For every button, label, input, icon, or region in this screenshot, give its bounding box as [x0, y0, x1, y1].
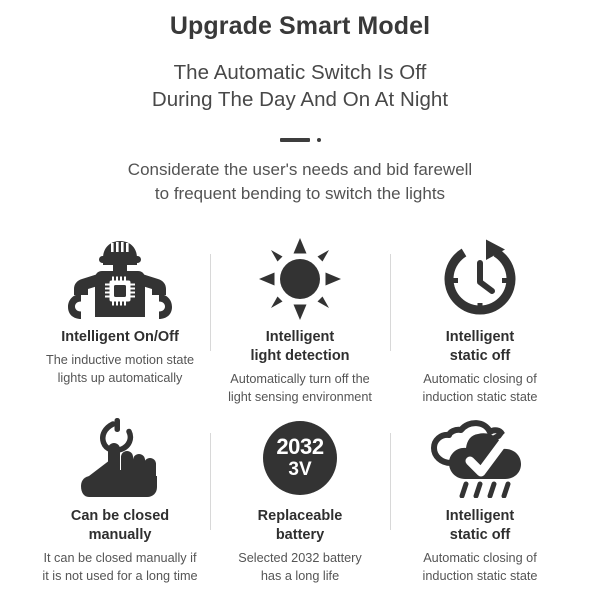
feature-title-line: Intelligent: [446, 328, 514, 347]
feature-description: Automatic closing of induction static st…: [423, 371, 538, 407]
feature-desc-line: light sensing environment: [228, 389, 372, 407]
feature-item-static-off-bottom: Intelligent static off Automatic closing…: [390, 415, 570, 586]
dash-dot-divider-icon: [0, 133, 600, 147]
feature-title-line: static off: [446, 526, 514, 545]
hand-power-touch-icon: [77, 415, 163, 501]
feature-description: Automatic closing of induction static st…: [423, 550, 538, 586]
robot-chip-icon: [68, 236, 172, 322]
sun-icon: [259, 236, 341, 322]
divider-bar: [280, 138, 310, 142]
feature-grid: Intelligent On/Off The inductive motion …: [30, 236, 570, 586]
feature-title-line: light detection: [250, 347, 349, 366]
feature-description: Automatically turn off the light sensing…: [228, 371, 372, 407]
lead-line-1: Considerate the user's needs and bid far…: [0, 158, 600, 182]
feature-title-line: Replaceable: [258, 507, 343, 526]
subtitle-line-2: During The Day And On At Night: [0, 86, 600, 113]
page-title: Upgrade Smart Model: [0, 11, 600, 41]
feature-item-manual-close: Can be closed manually It can be closed …: [30, 415, 210, 586]
feature-title-line: Intelligent: [250, 328, 349, 347]
battery-model-label: 2032: [276, 436, 323, 458]
feature-desc-line: Selected 2032 battery: [238, 550, 361, 568]
rain-cloud-check-icon: [431, 415, 529, 501]
clock-rotate-icon: [440, 236, 520, 322]
feature-desc-line: Automatically turn off the: [228, 371, 372, 389]
feature-item-light-detection: Intelligent light detection Automaticall…: [210, 236, 390, 407]
feature-desc-line: It can be closed manually if: [42, 550, 197, 568]
page-subtitle: The Automatic Switch Is Off During The D…: [0, 59, 600, 114]
feature-description: Selected 2032 battery has a long life: [238, 550, 361, 586]
divider-dot: [317, 138, 321, 142]
feature-title: Intelligent On/Off: [61, 328, 179, 347]
feature-desc-line: has a long life: [238, 568, 361, 586]
feature-desc-line: lights up automatically: [46, 370, 194, 388]
feature-title-line: battery: [258, 526, 343, 545]
feature-title-line: manually: [71, 526, 169, 545]
coin-battery-body: 2032 3V: [263, 421, 337, 495]
feature-description: It can be closed manually if it is not u…: [42, 550, 197, 586]
feature-desc-line: it is not used for a long time: [42, 568, 197, 586]
feature-desc-line: Automatic closing of: [423, 371, 538, 389]
lead-paragraph: Considerate the user's needs and bid far…: [0, 158, 600, 206]
feature-desc-line: The inductive motion state: [46, 352, 194, 370]
feature-description: The inductive motion state lights up aut…: [46, 352, 194, 388]
feature-title: Intelligent static off: [446, 507, 514, 546]
feature-title-line: Intelligent On/Off: [61, 328, 179, 347]
subtitle-line-1: The Automatic Switch Is Off: [0, 59, 600, 86]
feature-title: Replaceable battery: [258, 507, 343, 546]
lead-line-2: to frequent bending to switch the lights: [0, 182, 600, 206]
promo-page: Upgrade Smart Model The Automatic Switch…: [0, 0, 600, 600]
feature-title-line: Can be closed: [71, 507, 169, 526]
feature-item-replaceable-battery: 2032 3V Replaceable battery Selected 203…: [210, 415, 390, 586]
feature-desc-line: induction static state: [423, 389, 538, 407]
feature-title-line: static off: [446, 347, 514, 366]
feature-item-intelligent-on-off: Intelligent On/Off The inductive motion …: [30, 236, 210, 407]
feature-title-line: Intelligent: [446, 507, 514, 526]
coin-battery-icon: 2032 3V: [263, 415, 337, 501]
feature-item-static-off-top: Intelligent static off Automatic closing…: [390, 236, 570, 407]
feature-desc-line: Automatic closing of: [423, 550, 538, 568]
feature-title: Intelligent light detection: [250, 328, 349, 367]
feature-title: Can be closed manually: [71, 507, 169, 546]
feature-desc-line: induction static state: [423, 568, 538, 586]
header: Upgrade Smart Model The Automatic Switch…: [0, 0, 600, 206]
feature-title: Intelligent static off: [446, 328, 514, 367]
battery-voltage-label: 3V: [288, 460, 311, 479]
